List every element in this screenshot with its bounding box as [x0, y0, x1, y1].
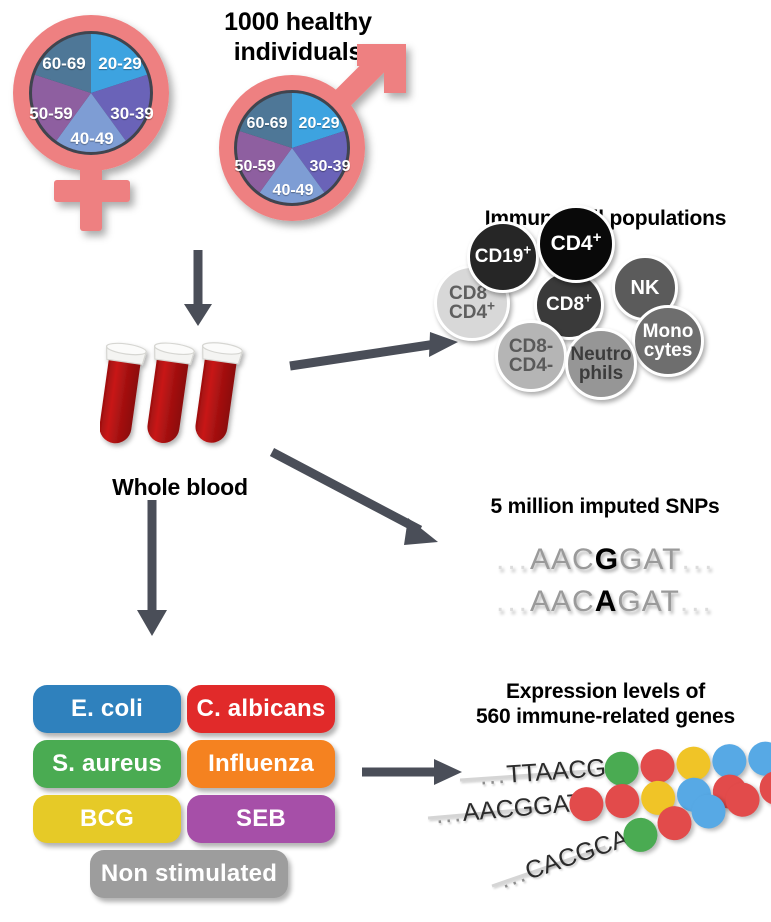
male-pie-label-40-49: 40-49 — [273, 182, 314, 200]
cell-line1: Mono — [643, 322, 694, 341]
blood-tube-group — [100, 340, 280, 460]
stimulus-non-stimulated[interactable]: Non stimulated — [90, 850, 288, 898]
cell-line2: cytes — [644, 341, 693, 360]
female-pie-label-40-49: 40-49 — [70, 129, 113, 149]
expression-title: Expression levels of 560 immune-related … — [440, 680, 771, 730]
cell-line1: CD4+ — [551, 233, 602, 254]
cell-line1: CD8- — [509, 337, 553, 356]
arrow-blood-to-immune — [288, 330, 468, 380]
stimulus-e-coli[interactable]: E. coli — [33, 685, 181, 733]
cell-line1: CD8+ — [449, 284, 495, 303]
expression-strands: ...TTAACGG ...AACGGAT ...CACGCAA — [440, 740, 771, 920]
cell-line2: CD4- — [509, 356, 553, 375]
cell-line2: CD4+ — [449, 303, 495, 322]
cell-line1: CD19+ — [475, 247, 532, 266]
blood-tube-2 — [141, 341, 195, 446]
whole-blood-label: Whole blood — [60, 474, 300, 501]
cell-line1: Neutro — [570, 345, 631, 364]
bead-2 — [653, 802, 696, 845]
male-symbol: 20-29 30-39 40-49 50-59 60-69 — [205, 30, 420, 245]
female-pie-label-20-29: 20-29 — [98, 54, 141, 74]
male-symbol-glyph — [205, 30, 420, 245]
female-symbol: 20-29 30-39 40-49 50-59 60-69 — [8, 8, 188, 238]
immune-cell-cd8neg-cd4neg: CD8- CD4- — [495, 320, 567, 392]
snp-post: GAT — [619, 543, 681, 576]
snp-suffix: ... — [682, 543, 716, 576]
immune-cell-neutrophils: Neutro phils — [565, 328, 637, 400]
bead-5 — [747, 741, 771, 777]
snp-pre: AAC — [530, 585, 595, 618]
stimulus-c-albicans[interactable]: C. albicans — [187, 685, 335, 733]
snp-allele: G — [595, 543, 619, 576]
strand-dots: ... — [479, 761, 508, 791]
cell-line2: phils — [579, 364, 623, 383]
immune-cell-title: Immune cell populations — [440, 207, 771, 232]
male-pie-label-60-69: 60-69 — [247, 115, 288, 133]
stimulus-seb[interactable]: SEB — [187, 795, 335, 843]
bead-2 — [604, 783, 641, 820]
snp-prefix: ... — [496, 585, 530, 618]
snp-allele: A — [595, 585, 618, 618]
snp-post: GAT — [617, 585, 679, 618]
strand-sequence: ...AACGGAT — [435, 789, 584, 831]
snp-prefix: ... — [496, 543, 530, 576]
bead-4 — [721, 778, 764, 821]
female-pie-label-50-59: 50-59 — [29, 104, 72, 124]
bead-3 — [687, 790, 730, 833]
female-pie-label-30-39: 30-39 — [110, 104, 153, 124]
female-pie-label-60-69: 60-69 — [42, 54, 85, 74]
snp-sequence-row-1: ...AACGGAT... — [496, 543, 716, 577]
snp-suffix: ... — [680, 585, 714, 618]
immune-cell-cd19pos: CD19+ — [467, 221, 539, 293]
stimulus-influenza[interactable]: Influenza — [187, 740, 335, 788]
male-pie-label-30-39: 30-39 — [310, 158, 351, 176]
stimulus-s-aureus[interactable]: S. aureus — [33, 740, 181, 788]
male-pie-label-50-59: 50-59 — [235, 158, 276, 176]
blood-tube-3 — [189, 341, 243, 446]
expression-title-line1: Expression levels of — [440, 680, 771, 705]
cell-line1: NK — [631, 278, 660, 298]
male-pie-label-20-29: 20-29 — [299, 115, 340, 133]
arrow-blood-to-snps — [270, 450, 460, 560]
expression-title-line2: 560 immune-related genes — [440, 705, 771, 730]
immune-cell-nk: NK — [612, 255, 678, 321]
cell-line1: CD8+ — [546, 295, 592, 314]
snp-pre: AAC — [530, 543, 595, 576]
snp-sequence-row-2: ...AACAGAT... — [496, 585, 714, 619]
snps-title: 5 million imputed SNPs — [455, 495, 755, 520]
strand-dots: ... — [435, 799, 464, 829]
blood-tube-1 — [100, 341, 147, 446]
immune-cell-cd8pos: CD8+ — [534, 270, 604, 340]
arrow-cohort-to-blood — [178, 250, 218, 330]
immune-cell-monocytes: Mono cytes — [632, 305, 704, 377]
arrow-blood-to-stimuli — [132, 500, 172, 640]
figure-canvas: 1000 healthy individuals — [0, 0, 771, 922]
blood-tubes — [100, 340, 280, 460]
stimulus-bcg[interactable]: BCG — [33, 795, 181, 843]
